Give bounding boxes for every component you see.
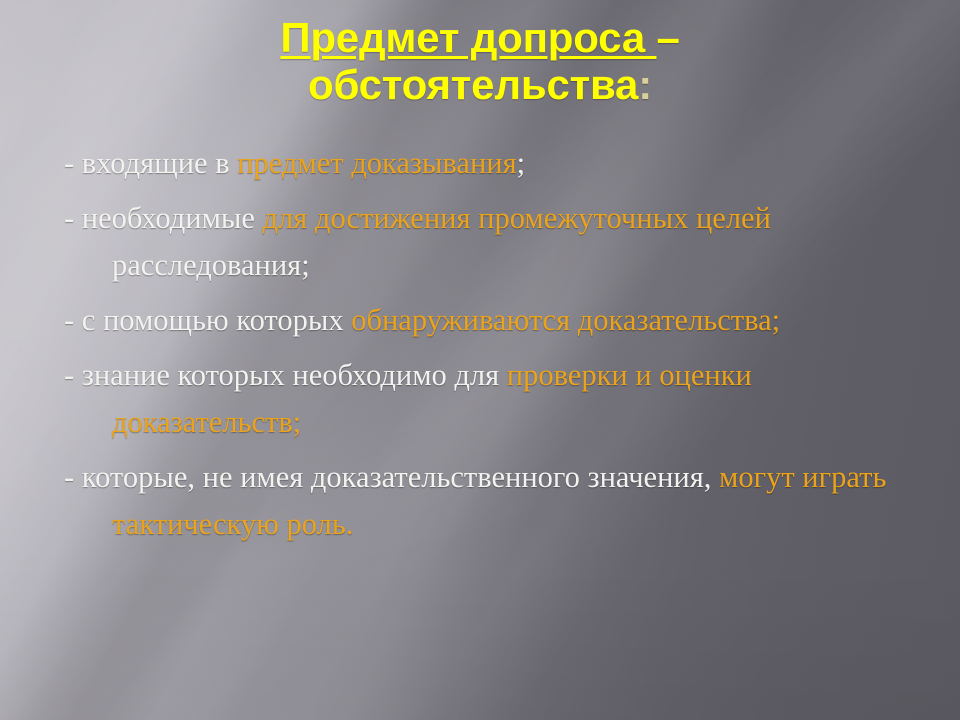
bullet-dash: -	[64, 146, 74, 180]
bullet-segment-plain: необходимые	[74, 201, 262, 235]
bullet-dash: -	[64, 201, 74, 235]
list-item: - с помощью которых обнаруживаются доказ…	[64, 297, 920, 343]
slide-title: Предмет допроса – обстоятельства:	[48, 14, 912, 108]
list-item: - необходимые для достижения промежуточн…	[64, 195, 920, 288]
bullet-segment-plain: которые, не имея доказательственного зна…	[74, 460, 719, 494]
bullet-segment-highlight: предмет доказывания	[237, 146, 516, 180]
title-colon: :	[638, 61, 652, 108]
bullet-segment-plain: с помощью которых	[74, 303, 351, 337]
list-item: - входящие в предмет доказывания;	[64, 140, 920, 186]
list-item: - знание которых необходимо для проверки…	[64, 352, 920, 445]
bullet-dash: -	[64, 358, 74, 392]
list-item: - которые, не имея доказательственного з…	[64, 454, 920, 547]
bullet-segment-plain: расследования;	[112, 248, 310, 282]
bullet-segment-plain: ;	[517, 146, 525, 180]
bullet-dash: -	[64, 460, 74, 494]
title-second-line: обстоятельства	[308, 61, 638, 108]
bullet-list: - входящие в предмет доказывания; - необ…	[64, 140, 920, 547]
title-dash: –	[656, 14, 679, 61]
presentation-slide: Предмет допроса – обстоятельства: - вход…	[0, 0, 960, 720]
bullet-segment-plain: знание которых необходимо для	[74, 358, 507, 392]
bullet-segment-highlight: для достижения промежуточных целей	[263, 201, 771, 235]
bullet-segment-plain: входящие в	[74, 146, 237, 180]
title-underlined-part: Предмет допроса	[280, 14, 656, 61]
bullet-segment-highlight: обнаруживаются доказательства;	[351, 303, 780, 337]
bullet-dash: -	[64, 303, 74, 337]
